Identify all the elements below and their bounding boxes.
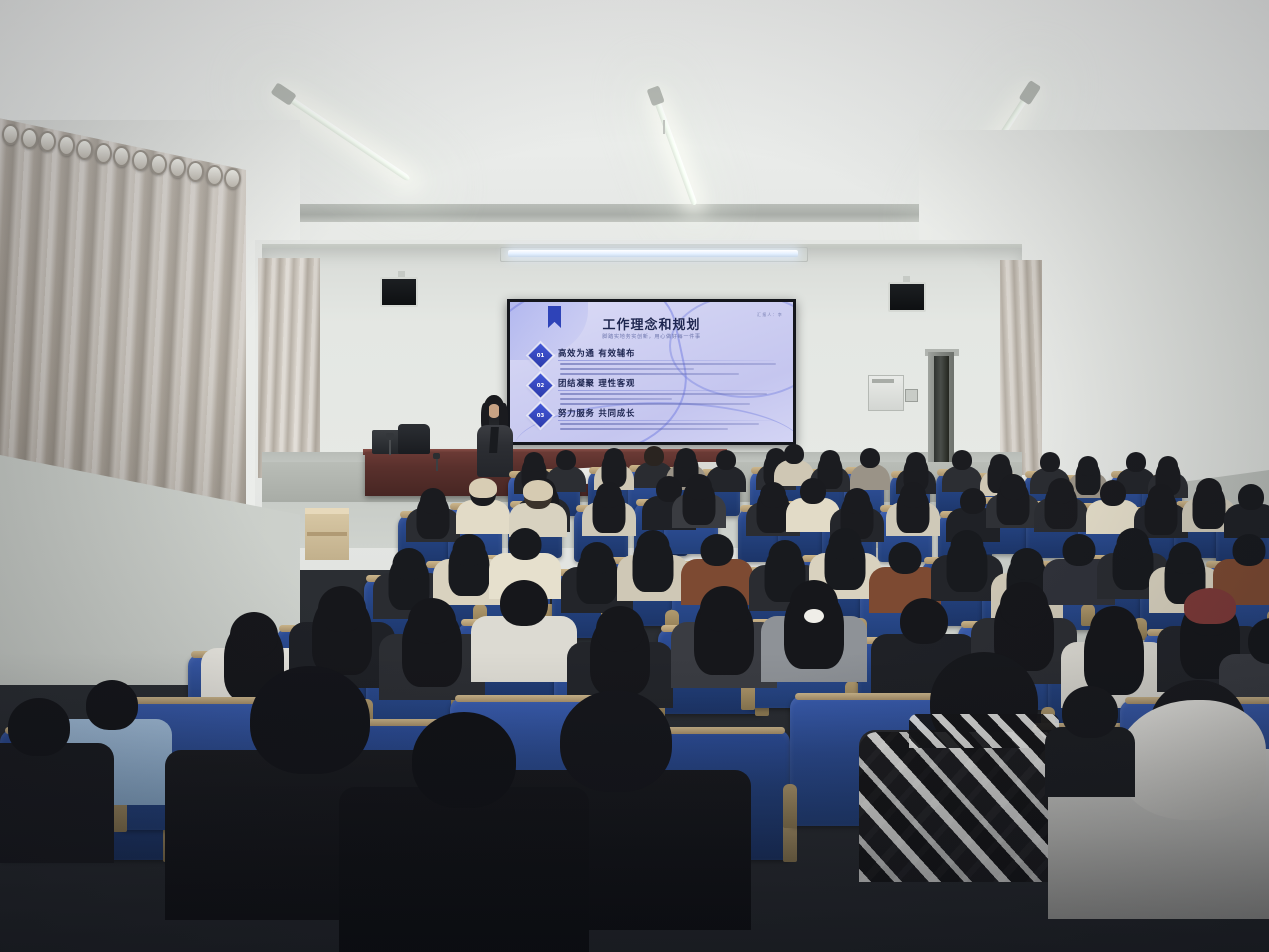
plaid-collar [909, 714, 1059, 748]
section-body [560, 363, 776, 378]
curtain-grommet [113, 146, 130, 167]
audience-member [8, 698, 70, 876]
section-heading: 团结凝聚 理性客观 [558, 377, 635, 389]
curtain-grommet [150, 154, 167, 175]
audience-member [1078, 456, 1098, 502]
light-switch[interactable] [905, 389, 918, 402]
audience-head [900, 598, 948, 644]
audience-member [800, 478, 826, 538]
audience-member [596, 482, 622, 542]
slide-title: 工作理念和规划 [510, 314, 793, 333]
audience-cap [523, 480, 553, 501]
audience-head [1100, 480, 1126, 506]
auditorium-photo: 工作理念和规划 脚踏实地务实创新，用心做好每一件事 汇报人：李 01 高效为通 … [0, 0, 1269, 952]
audience-head [1126, 452, 1146, 472]
audience-head [1238, 484, 1264, 510]
audience-head [700, 586, 748, 632]
panel-label-strip [872, 379, 894, 383]
audience-head [768, 540, 801, 572]
audience-head [1062, 686, 1118, 738]
audience-head [844, 488, 870, 514]
audience-head [760, 482, 786, 508]
audience-head [952, 450, 972, 470]
audience-head [900, 482, 926, 508]
audience-member [420, 488, 446, 548]
person-hair-scrunchie [790, 580, 838, 692]
hoodie-hood [1116, 700, 1266, 820]
audience-member [1196, 478, 1222, 538]
audience-member [452, 534, 485, 612]
seat-armrest [783, 784, 797, 828]
wall-speaker-left [380, 277, 418, 307]
audience-head [580, 542, 613, 574]
section-rule [558, 390, 774, 391]
section-heading: 高效为通 有效辅布 [558, 347, 635, 359]
curtain-grommet-row [0, 118, 250, 198]
audience-member [500, 580, 548, 692]
person-beige-cap [470, 480, 496, 540]
audience-torso [0, 743, 114, 863]
person-gray-hoodie [1150, 680, 1246, 938]
audience-head [1158, 456, 1178, 476]
section-body [560, 393, 776, 408]
person-plaid-coat [930, 652, 1038, 902]
audience-member [1062, 686, 1118, 808]
audience-head [784, 444, 804, 464]
curtain-grommet [2, 124, 19, 145]
audience-head [716, 450, 736, 470]
hair-tie [804, 609, 824, 623]
audience-head [452, 534, 485, 566]
projection-screen[interactable]: 工作理念和规划 脚踏实地务实创新，用心做好每一件事 汇报人：李 01 高效为通 … [507, 299, 796, 445]
audience-head [700, 534, 733, 566]
slide-corner-note: 汇报人：李 [757, 312, 783, 318]
audience-member [1126, 452, 1146, 498]
audience-head [230, 612, 278, 658]
audience-member [1062, 534, 1095, 612]
section-rule [558, 360, 774, 361]
audience-head [990, 454, 1010, 474]
audience-member [636, 530, 669, 608]
audience-head [8, 698, 70, 756]
audience-member [686, 474, 712, 534]
audience-head [596, 606, 644, 652]
audience-seating [0, 430, 1269, 952]
audience-head [420, 488, 446, 514]
section-number: 03 [532, 407, 549, 424]
audience-member [556, 450, 576, 496]
audience-head [888, 542, 921, 574]
audience-head [556, 450, 576, 470]
presentation-slide: 工作理念和规划 脚踏实地务实创新，用心做好每一件事 汇报人：李 01 高效为通 … [510, 302, 793, 442]
curtain-grommet [206, 165, 223, 186]
audience-member [1116, 528, 1149, 606]
audience-head [1040, 452, 1060, 472]
section-number: 02 [532, 377, 549, 394]
audience-head [560, 690, 672, 792]
curtain-grommet [76, 139, 93, 160]
audience-cap [469, 478, 497, 498]
audience-head [500, 580, 548, 626]
audience-head [1116, 528, 1149, 560]
audience-head [250, 666, 370, 774]
audience-head [1090, 606, 1138, 652]
curtain-grommet [39, 131, 56, 152]
audience-head [860, 448, 880, 468]
audience-member [1232, 534, 1265, 612]
curtain-grommet [58, 135, 75, 156]
audience-member [412, 712, 516, 952]
audience-head [676, 448, 696, 468]
audience-head [1168, 542, 1201, 574]
curtain-grommet [187, 161, 204, 182]
audience-member [1148, 484, 1174, 544]
audience-head [1062, 534, 1095, 566]
section-heading: 努力服务 共同成长 [558, 407, 635, 419]
audience-head [524, 452, 544, 472]
curtain-grommet [169, 157, 186, 178]
curtain-grommet [21, 128, 38, 149]
curtain-grommet [224, 168, 241, 189]
audience-head [1078, 456, 1098, 476]
curtain-grommet [132, 150, 149, 171]
section-rule [558, 420, 774, 421]
audience-head [828, 528, 861, 560]
audience-torso [339, 787, 589, 952]
audience-head [86, 680, 138, 730]
audience-head [1010, 548, 1043, 580]
audience-head [596, 482, 622, 508]
section-number: 01 [532, 347, 549, 364]
audience-member [716, 450, 736, 496]
audience-member [1048, 478, 1074, 538]
audience-head [906, 452, 926, 472]
audience-member [1000, 474, 1026, 534]
audience-member [408, 598, 456, 710]
curtain-grommet [95, 143, 112, 164]
ceiling-wire [663, 120, 665, 134]
audience-head [318, 586, 366, 632]
audience-head [636, 530, 669, 562]
audience-head [1000, 582, 1048, 628]
electrical-panel[interactable] [868, 375, 904, 411]
audience-head [644, 446, 664, 466]
audience-member [950, 530, 983, 608]
slide-subtitle: 脚踏实地务实创新，用心做好每一件事 [510, 333, 793, 340]
audience-head [412, 712, 516, 808]
audience-head [960, 488, 986, 514]
audience-head [1232, 534, 1265, 566]
audience-head [508, 528, 541, 560]
audience-head [1148, 484, 1174, 510]
audience-head [604, 448, 624, 468]
audience-member [700, 586, 748, 698]
stage-strip-light [508, 250, 798, 257]
audience-head [950, 530, 983, 562]
audience-head [408, 598, 456, 644]
audience-head [820, 450, 840, 470]
audience-member [760, 482, 786, 542]
wall-speaker-right [888, 282, 926, 312]
audience-head [1048, 478, 1074, 504]
audience-head [1000, 474, 1026, 500]
audience-cap [1184, 588, 1236, 624]
audience-head [392, 548, 425, 580]
audience-head [800, 478, 826, 504]
audience-head [686, 474, 712, 500]
audience-head [1196, 478, 1222, 504]
audience-member [900, 482, 926, 542]
